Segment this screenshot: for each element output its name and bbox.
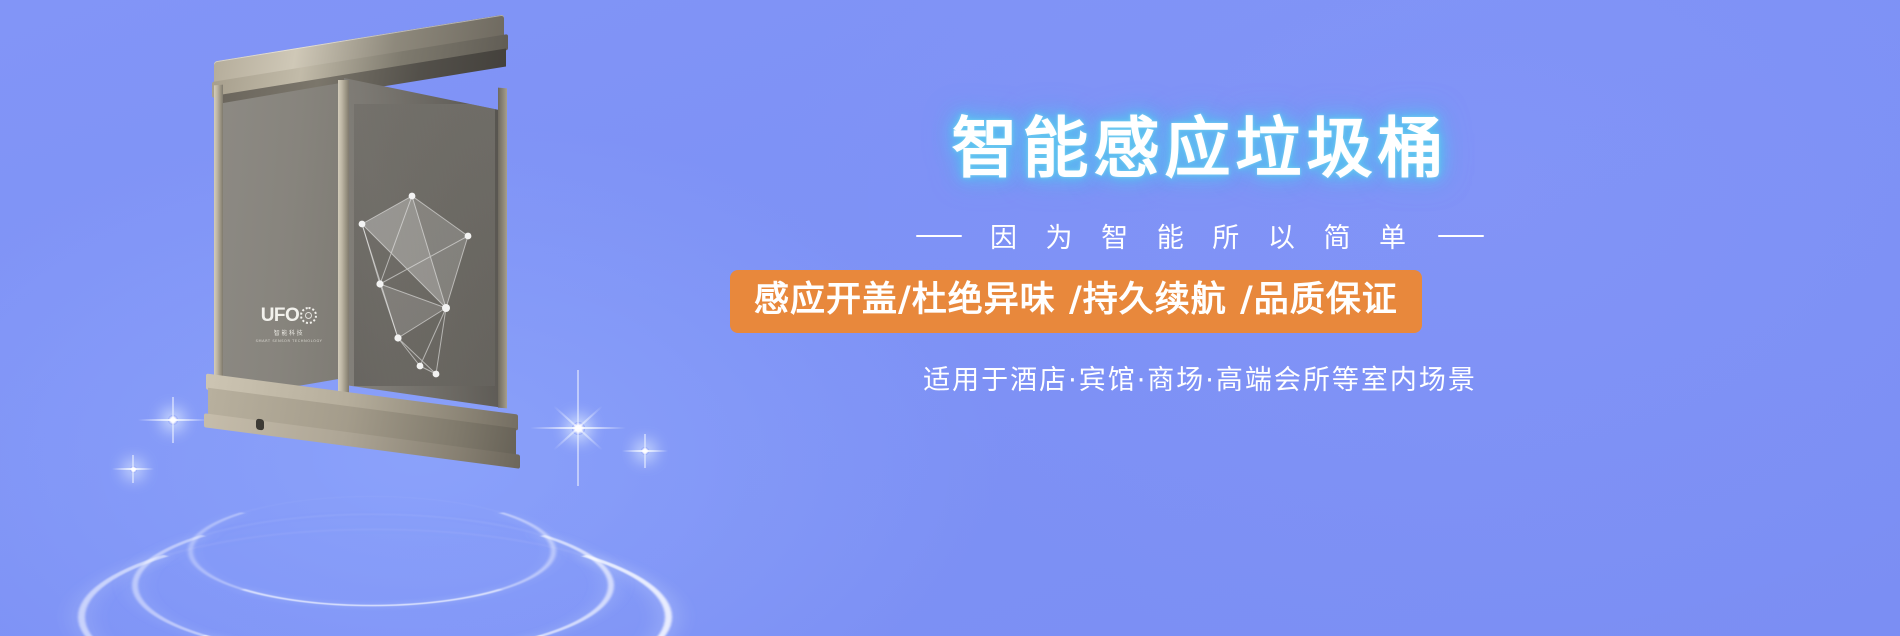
- promo-banner: UFO 智能科技 SMART SENSOR TECHNOLOGY 智能感应垃圾桶…: [0, 0, 1900, 636]
- trash-bin-product: UFO 智能科技 SMART SENSOR TECHNOLOGY: [210, 38, 540, 458]
- copy-block: 智能感应垃圾桶 因 为 智 能 所 以 简 单 感应开盖/杜绝异味 /持久续航 …: [700, 0, 1900, 636]
- product-stage: UFO 智能科技 SMART SENSOR TECHNOLOGY: [60, 30, 700, 560]
- bin-base-keyhole: [256, 418, 264, 430]
- banner-subtitle: 因 为 智 能 所 以 简 单: [700, 216, 1700, 255]
- brand-wordmark: UFO: [261, 306, 300, 325]
- brand-name-en: SMART SENSOR TECHNOLOGY: [252, 339, 326, 343]
- brand-logo: UFO 智能科技 SMART SENSOR TECHNOLOGY: [252, 306, 326, 343]
- subtitle-dash-left: [916, 235, 962, 237]
- subtitle-dash-right: [1438, 235, 1484, 237]
- bin-edge-center: [338, 80, 349, 408]
- bin-edge-left: [214, 85, 223, 401]
- ufo-logo-icon: UFO: [252, 306, 326, 325]
- orb-icon: [300, 307, 317, 324]
- sparkle-icon-left-lower: [112, 448, 154, 490]
- sparkle-icon-right-lower: [622, 428, 668, 474]
- sparkle-icon-right-upper: [530, 370, 626, 486]
- usage-scenes-text: 适用于酒店·宾馆·商场·高端会所等室内场景: [700, 358, 1700, 397]
- feature-highlight-badge: 感应开盖/杜绝异味 /持久续航 /品质保证: [730, 270, 1422, 333]
- brand-name-cn: 智能科技: [252, 328, 326, 337]
- sparkle-icon-left-upper: [138, 385, 208, 455]
- banner-title: 智能感应垃圾桶: [700, 116, 1700, 182]
- bin-face-left: [216, 82, 346, 400]
- polygon-mesh-graphic: [350, 188, 500, 388]
- subtitle-text: 因 为 智 能 所 以 简 单: [984, 216, 1416, 255]
